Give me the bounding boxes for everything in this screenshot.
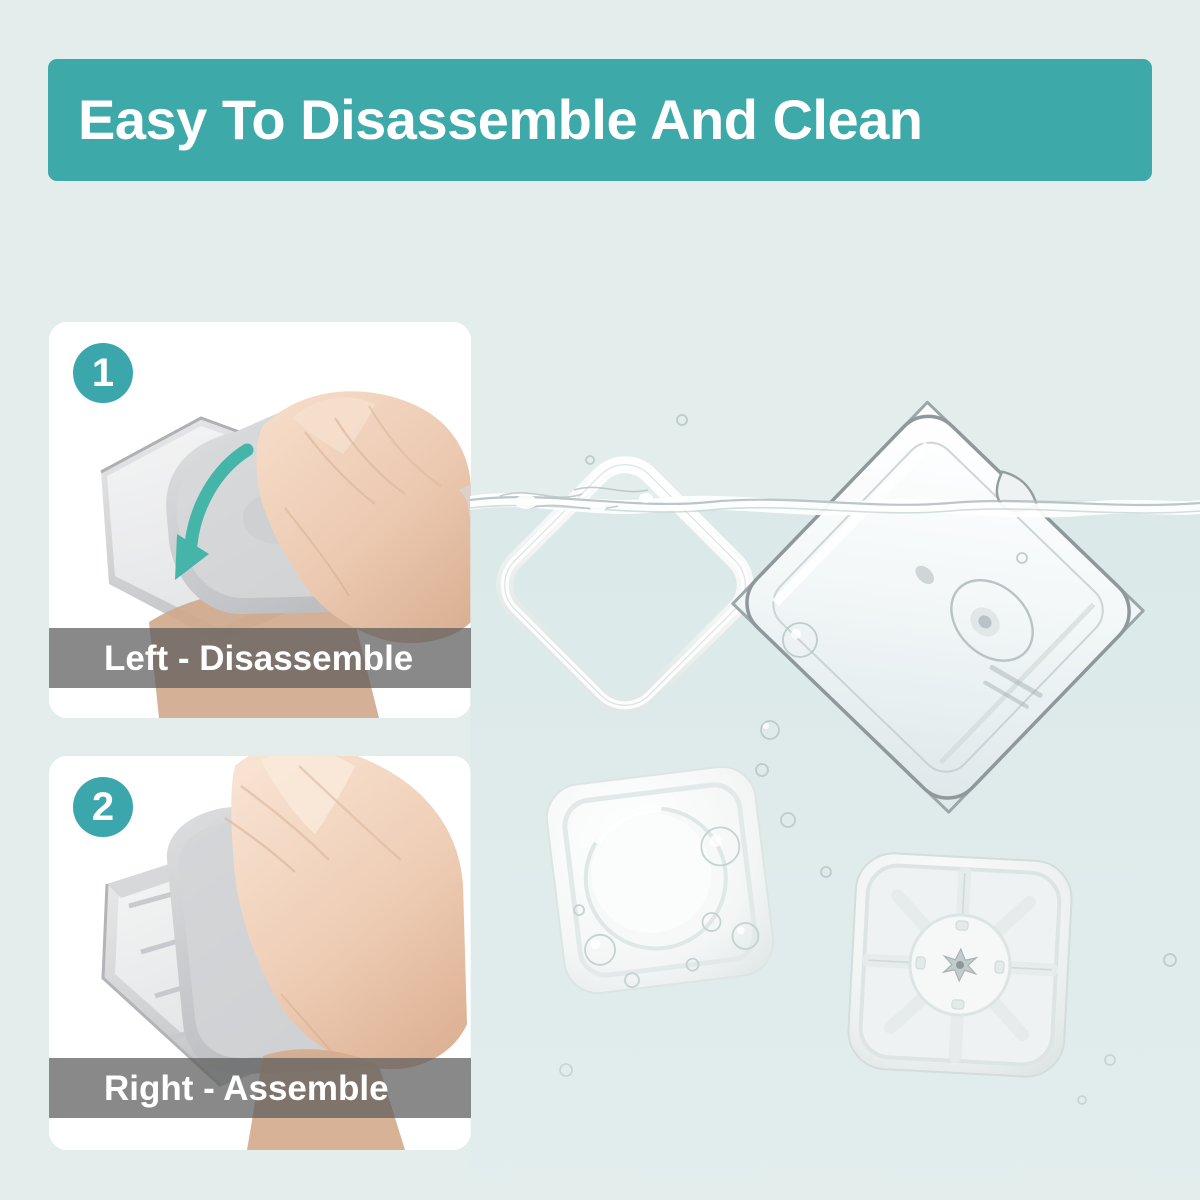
- step-2-badge: 2: [73, 777, 133, 837]
- lid-underside-ribs: [846, 851, 1073, 1078]
- water-scene: [470, 300, 1200, 1180]
- step-1-caption-bar: Left - Disassemble: [49, 628, 471, 688]
- lid-top-face: [543, 763, 777, 997]
- step-card-2: 2 Right - Assemble: [49, 756, 471, 1150]
- water-scene-illustration: [470, 300, 1200, 1180]
- step-1-badge: 1: [73, 343, 133, 403]
- step-2-caption-bar: Right - Assemble: [49, 1058, 471, 1118]
- step-1-caption-text: Left - Disassemble: [49, 641, 413, 676]
- header-banner: Easy To Disassemble And Clean: [48, 59, 1152, 181]
- page-title: Easy To Disassemble And Clean: [78, 92, 922, 148]
- step-2-caption-text: Right - Assemble: [49, 1071, 389, 1106]
- step-card-1: 1 Left - Disassemble: [49, 322, 471, 718]
- product-feature-page: Easy To Disassemble And Clean: [0, 0, 1200, 1200]
